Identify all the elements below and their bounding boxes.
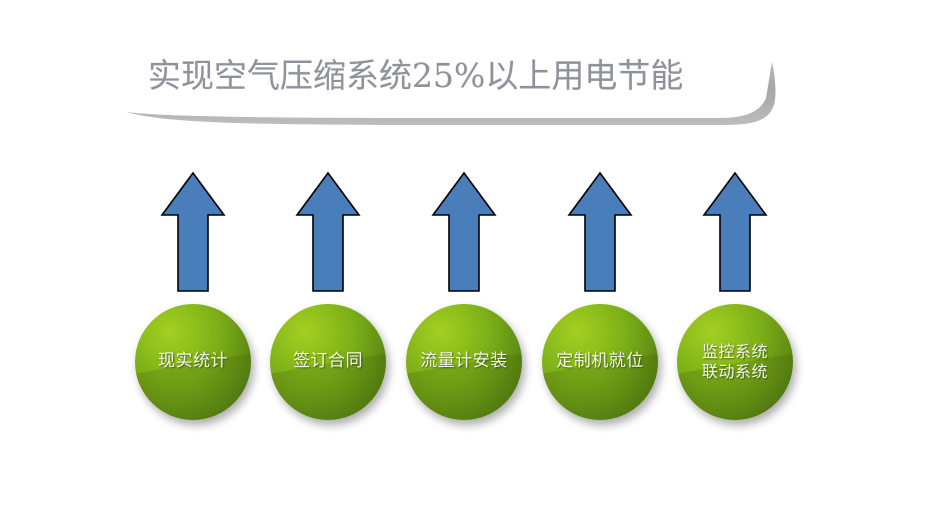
process-node-label: 流量计安装 — [420, 351, 508, 373]
up-arrow-icon-1 — [160, 171, 226, 293]
page-title: 实现空气压缩系统25%以上用电节能 — [148, 48, 768, 104]
process-node-2[interactable]: 签订合同 — [270, 304, 386, 420]
up-arrow-glyph — [567, 171, 633, 293]
up-arrow-glyph — [295, 171, 361, 293]
up-arrow-glyph — [160, 171, 226, 293]
title-banner: 实现空气压缩系统25%以上用电节能 — [120, 38, 790, 130]
process-node-1[interactable]: 现实统计 — [135, 304, 251, 420]
up-arrow-icon-3 — [431, 171, 497, 293]
process-node-5[interactable]: 监控系统 联动系统 — [677, 304, 793, 420]
slide-canvas: 实现空气压缩系统25%以上用电节能 现实统计 签订合同 流量计安装 — [0, 0, 945, 529]
up-arrow-glyph — [702, 171, 768, 293]
up-arrow-icon-5 — [702, 171, 768, 293]
process-node-label: 现实统计 — [158, 351, 228, 373]
up-arrow-glyph — [431, 171, 497, 293]
process-node-label: 定制机就位 — [556, 351, 644, 373]
up-arrow-icon-4 — [567, 171, 633, 293]
process-node-4[interactable]: 定制机就位 — [542, 304, 658, 420]
process-node-label: 签订合同 — [293, 351, 363, 373]
process-node-3[interactable]: 流量计安装 — [406, 304, 522, 420]
process-node-label: 监控系统 联动系统 — [702, 342, 768, 383]
up-arrow-icon-2 — [295, 171, 361, 293]
